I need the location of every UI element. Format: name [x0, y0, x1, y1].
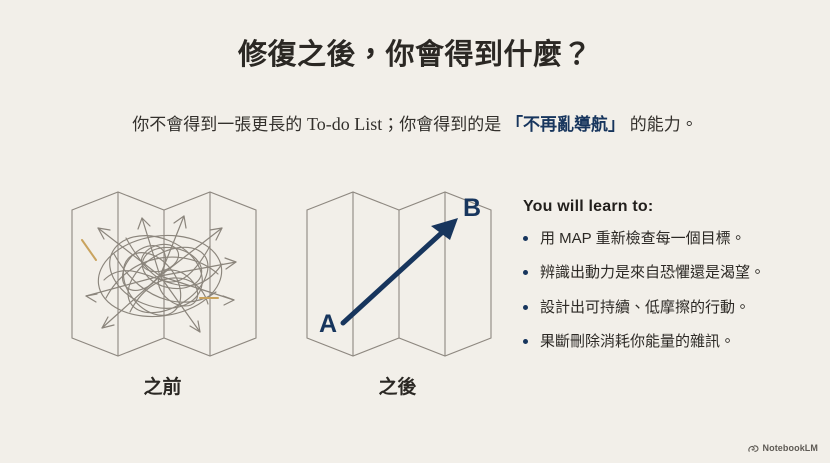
route-arrow-a-to-b	[343, 218, 458, 323]
after-caption: 之後	[295, 372, 500, 399]
list-item-label: 辨識出動力是來自恐懼還是渴望。	[540, 264, 765, 281]
list-item-label: 設計出可持續、低摩擦的行動。	[540, 299, 750, 316]
before-map-figure	[60, 180, 265, 365]
subtitle-todo-list: To-do List	[307, 114, 382, 134]
comparison-figures: A B	[45, 180, 505, 365]
subtitle-mid: ；你會得到的是	[382, 115, 506, 134]
learning-outcomes-panel: You will learn to: 用 MAP 重新檢查每一個目標。 辨識出動…	[523, 198, 813, 366]
list-item: 果斷刪除消耗你能量的雜訊。	[523, 332, 813, 352]
subtitle-lead: 你不會得到一張更長的	[132, 115, 307, 134]
before-caption: 之前	[60, 372, 265, 399]
learn-list: 用 MAP 重新檢查每一個目標。 辨識出動力是來自恐懼還是渴望。 設計出可持續、…	[523, 229, 813, 352]
subtitle-tail: 的能力。	[625, 115, 698, 134]
point-label-b: B	[463, 194, 481, 222]
learn-heading: You will learn to:	[523, 198, 813, 216]
notebooklm-watermark: NotebookLM	[748, 443, 819, 453]
page-title: 修復之後，你會得到什麼？	[0, 38, 830, 73]
bullet-dot-icon	[523, 270, 528, 275]
bullet-dot-icon	[523, 305, 528, 310]
subtitle-accent: 「不再亂導航」	[506, 115, 625, 134]
bullet-dot-icon	[523, 339, 528, 344]
list-item-label: 果斷刪除消耗你能量的雜訊。	[540, 333, 735, 350]
point-label-a: A	[319, 310, 337, 338]
slide-subtitle: 你不會得到一張更長的 To-do List；你會得到的是 「不再亂導航」 的能力…	[0, 112, 830, 137]
notebooklm-icon	[748, 444, 759, 453]
after-map-figure: A B	[295, 180, 500, 365]
bullet-dot-icon	[523, 236, 528, 241]
notebooklm-label: NotebookLM	[763, 443, 819, 453]
list-item: 設計出可持續、低摩擦的行動。	[523, 298, 813, 318]
list-item: 辨識出動力是來自恐懼還是渴望。	[523, 263, 813, 283]
list-item: 用 MAP 重新檢查每一個目標。	[523, 229, 813, 249]
list-item-label: 用 MAP 重新檢查每一個目標。	[540, 230, 746, 247]
slide-root: 修復之後，你會得到什麼？ 你不會得到一張更長的 To-do List；你會得到的…	[0, 0, 830, 463]
